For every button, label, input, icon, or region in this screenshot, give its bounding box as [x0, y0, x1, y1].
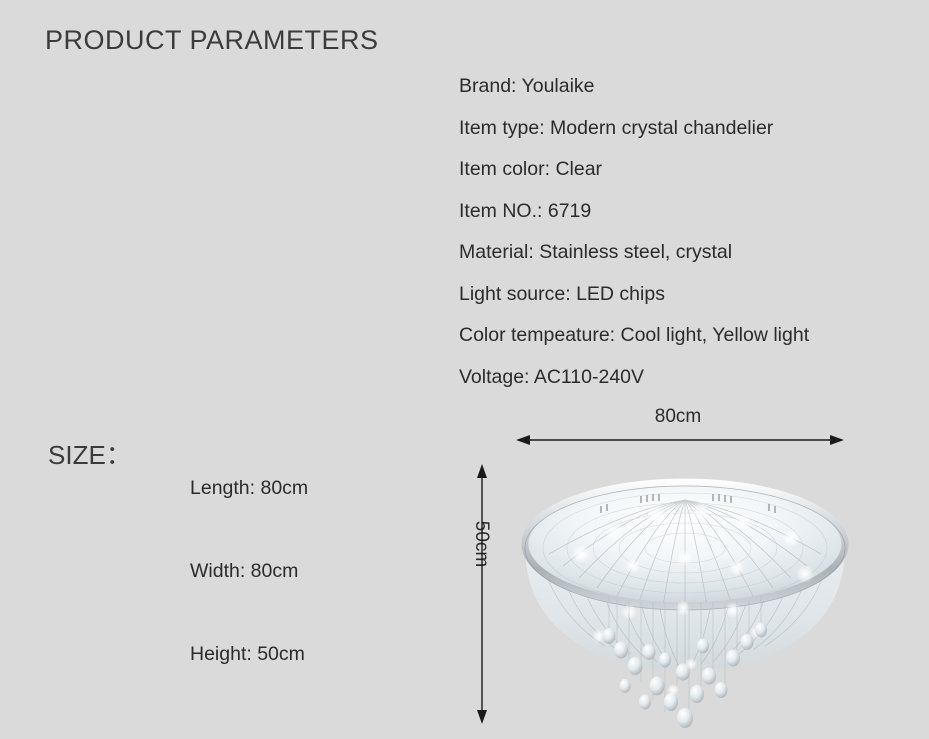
dimension-width-arrow — [510, 428, 850, 452]
parameter-light-source: Light source: LED chips — [459, 274, 919, 316]
size-row-height: Height: 50cm — [190, 643, 450, 726]
chandelier-dome — [525, 482, 845, 610]
parameter-material: Material: Stainless steel, crystal — [459, 232, 919, 274]
parameter-list: Brand: Youlaike Item type: Modern crysta… — [459, 66, 919, 398]
product-photo-chandelier — [505, 450, 865, 739]
parameter-item-number: Item NO.: 6719 — [459, 191, 919, 233]
dimension-width-label: 80cm — [518, 406, 838, 428]
dimension-height-arrow — [470, 458, 494, 730]
page-title: PRODUCT PARAMETERS — [45, 25, 379, 56]
size-row-length: Length: 80cm — [190, 477, 450, 560]
product-parameters-page: PRODUCT PARAMETERS Brand: Youlaike Item … — [0, 0, 929, 739]
parameter-color-temperature: Color tempeature: Cool light, Yellow lig… — [459, 315, 919, 357]
size-list: Length: 80cm Width: 80cm Height: 50cm — [190, 477, 450, 726]
size-section-heading: SIZE： — [48, 435, 132, 472]
parameter-item-type: Item type: Modern crystal chandelier — [459, 108, 919, 150]
size-row-width: Width: 80cm — [190, 560, 450, 643]
parameter-item-color: Item color: Clear — [459, 149, 919, 191]
parameter-voltage: Voltage: AC110-240V — [459, 357, 919, 399]
parameter-brand: Brand: Youlaike — [459, 66, 919, 108]
